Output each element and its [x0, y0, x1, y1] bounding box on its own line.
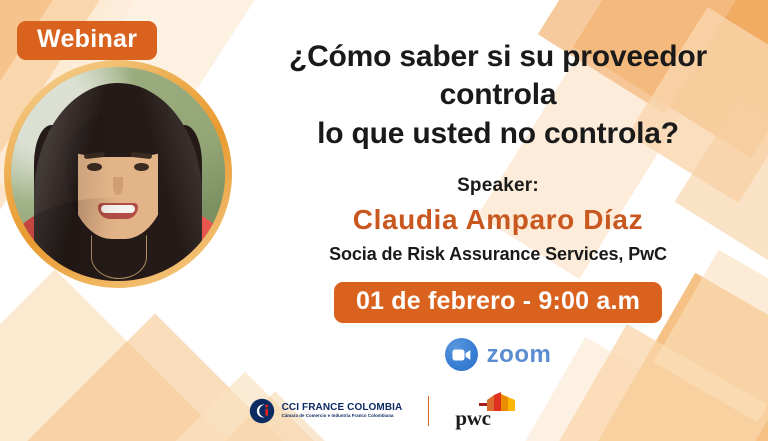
schedule-banner: 01 de febrero - 9:00 a.m: [334, 282, 662, 323]
page-title: ¿Cómo saber si su proveedor controla lo …: [236, 0, 760, 153]
speaker-role: Socia de Risk Assurance Services, PwC: [236, 244, 760, 265]
speaker-portrait: [4, 60, 232, 288]
footer-logos: CCI FRANCE COLOMBIA Cámara de Comercio e…: [0, 392, 768, 430]
pwc-logo: pwc: [455, 392, 519, 430]
footer-divider: [428, 396, 429, 426]
schedule-text: 01 de febrero - 9:00 a.m: [356, 287, 640, 315]
cci-text-block: CCI FRANCE COLOMBIA Cámara de Comercio e…: [282, 403, 403, 419]
webinar-badge: Webinar: [17, 21, 157, 60]
webinar-badge-label: Webinar: [37, 25, 137, 53]
zoom-wordmark: zoom: [487, 341, 552, 369]
cci-monogram-icon: [249, 398, 275, 424]
platform-logo: zoom: [236, 338, 760, 371]
page-title-line-1: ¿Cómo saber si su proveedor controla: [236, 38, 760, 115]
pwc-wordmark: pwc: [455, 406, 490, 431]
zoom-camera-icon: [445, 338, 478, 371]
cci-logo-title: CCI FRANCE COLOMBIA: [282, 403, 403, 414]
poster-content: ¿Cómo saber si su proveedor controla lo …: [236, 0, 760, 441]
speaker-portrait-image: [11, 67, 225, 281]
speaker-label: Speaker:: [236, 175, 760, 197]
speaker-name: Claudia Amparo Díaz: [236, 204, 760, 236]
cci-france-colombia-logo: CCI FRANCE COLOMBIA Cámara de Comercio e…: [249, 398, 403, 424]
cci-logo-subtitle: Cámara de Comercio e Industria Franco Co…: [282, 414, 403, 419]
page-title-line-2: lo que usted no controla?: [236, 115, 760, 153]
webinar-poster: Webinar: [0, 0, 768, 441]
